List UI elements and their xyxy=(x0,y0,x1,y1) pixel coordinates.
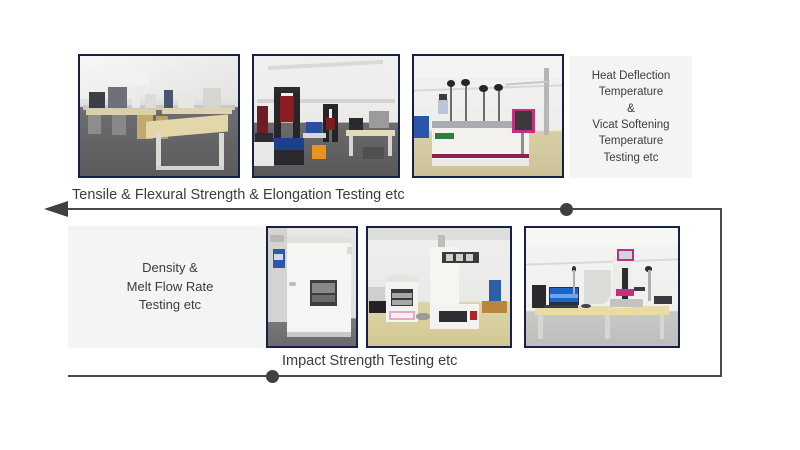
photo-universal-testing-machines xyxy=(252,54,400,178)
photo-lab-overview xyxy=(78,54,240,178)
arrow-left-icon xyxy=(44,201,68,217)
flow-line-bottom xyxy=(68,375,722,377)
diagram-canvas: Heat Deflection Temperature & Vicat Soft… xyxy=(0,0,800,450)
flow-line-right xyxy=(720,208,722,376)
flow-node-top-icon xyxy=(560,203,573,216)
panel-density-melt-flow-text: Density & Melt Flow Rate Testing etc xyxy=(68,226,272,348)
flow-line-top xyxy=(68,208,722,210)
panel-heat-deflection-text: Heat Deflection Temperature & Vicat Soft… xyxy=(570,56,692,178)
photo-hdt-vicat-tester xyxy=(412,54,564,178)
photo-melt-flow-rate-tester xyxy=(366,226,512,348)
photo-impact-strength-tester xyxy=(524,226,680,348)
caption-impact-strength: Impact Strength Testing etc xyxy=(282,353,457,369)
caption-tensile-flexural: Tensile & Flexural Strength & Elongation… xyxy=(72,187,405,203)
photo-drying-oven xyxy=(266,226,358,348)
flow-node-bottom-icon xyxy=(266,370,279,383)
